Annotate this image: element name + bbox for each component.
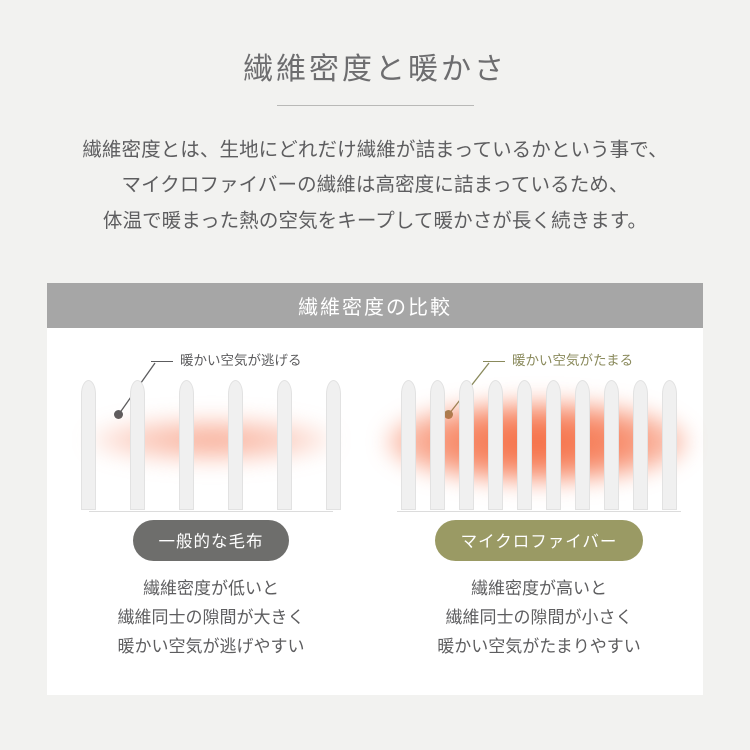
badge-general-blanket[interactable]: 一般的な毛布	[133, 520, 290, 561]
caption-microfiber: 繊維密度が高いと 繊維同士の隙間が小さく 暖かい空気がたまりやすい	[375, 574, 703, 662]
panel-general-blanket: 暖かい空気が逃げる	[47, 328, 375, 695]
fiber	[488, 380, 503, 510]
title-underline	[277, 105, 474, 106]
caption-line-1: 繊維密度が高いと	[375, 574, 703, 603]
fiber	[633, 380, 648, 510]
caption-line-3: 暖かい空気が逃げやすい	[47, 632, 375, 661]
fiber-group-left	[47, 374, 375, 510]
fiber	[517, 380, 532, 510]
badge-microfiber[interactable]: マイクロファイバー	[435, 520, 644, 561]
callout-air-accumulates: 暖かい空気がたまる	[483, 349, 633, 369]
callout-label: 暖かい空気が逃げる	[180, 353, 302, 368]
fiber	[401, 380, 416, 510]
infographic-page: 繊維密度と暖かさ 繊維密度とは、生地にどれだけ繊維が詰まっているかという事で、 …	[0, 0, 750, 750]
lead-line-1: 繊維密度とは、生地にどれだけ繊維が詰まっているかという事で、	[18, 133, 732, 168]
fiber	[228, 380, 243, 510]
caption-general-blanket: 繊維密度が低いと 繊維同士の隙間が大きく 暖かい空気が逃げやすい	[47, 574, 375, 662]
badge-row-right: マイクロファイバー	[375, 520, 703, 561]
card-header: 繊維密度の比較	[47, 283, 703, 328]
lead-paragraph: 繊維密度とは、生地にどれだけ繊維が詰まっているかという事で、 マイクロファイバー…	[18, 133, 732, 239]
fiber-baseline-left	[89, 511, 333, 512]
fiber	[575, 380, 590, 510]
panel-container: 暖かい空気が逃げる	[47, 328, 703, 695]
fiber	[179, 380, 194, 510]
caption-line-2: 繊維同士の隙間が小さく	[375, 603, 703, 632]
heading-section: 繊維密度と暖かさ	[0, 0, 750, 106]
caption-line-3: 暖かい空気がたまりやすい	[375, 632, 703, 661]
panel-microfiber: 暖かい空気がたまる	[375, 328, 703, 695]
lead-line-2: マイクロファイバーの繊維は高密度に詰まっているため、	[18, 168, 732, 203]
fiber	[130, 380, 145, 510]
caption-line-2: 繊維同士の隙間が大きく	[47, 603, 375, 632]
fiber-baseline-right	[397, 511, 681, 512]
fiber	[662, 380, 677, 510]
callout-air-escapes: 暖かい空気が逃げる	[151, 349, 302, 369]
badge-row-left: 一般的な毛布	[47, 520, 375, 561]
lead-line-3: 体温で暖まった熱の空気をキープして暖かさが長く続きます。	[18, 204, 732, 239]
fiber	[277, 380, 292, 510]
caption-line-1: 繊維密度が低いと	[47, 574, 375, 603]
fiber	[546, 380, 561, 510]
page-title: 繊維密度と暖かさ	[0, 52, 750, 88]
comparison-card: 繊維密度の比較 暖かい空気が逃げる	[47, 283, 703, 695]
fiber	[459, 380, 474, 510]
callout-label: 暖かい空気がたまる	[512, 353, 633, 368]
fiber	[326, 380, 341, 510]
fiber-group-right	[375, 374, 703, 510]
fiber	[430, 380, 445, 510]
fiber-stage-left	[47, 374, 375, 510]
card-header-title: 繊維密度の比較	[298, 291, 452, 320]
fiber-stage-right	[375, 374, 703, 510]
fiber	[604, 380, 619, 510]
fiber	[81, 380, 96, 510]
